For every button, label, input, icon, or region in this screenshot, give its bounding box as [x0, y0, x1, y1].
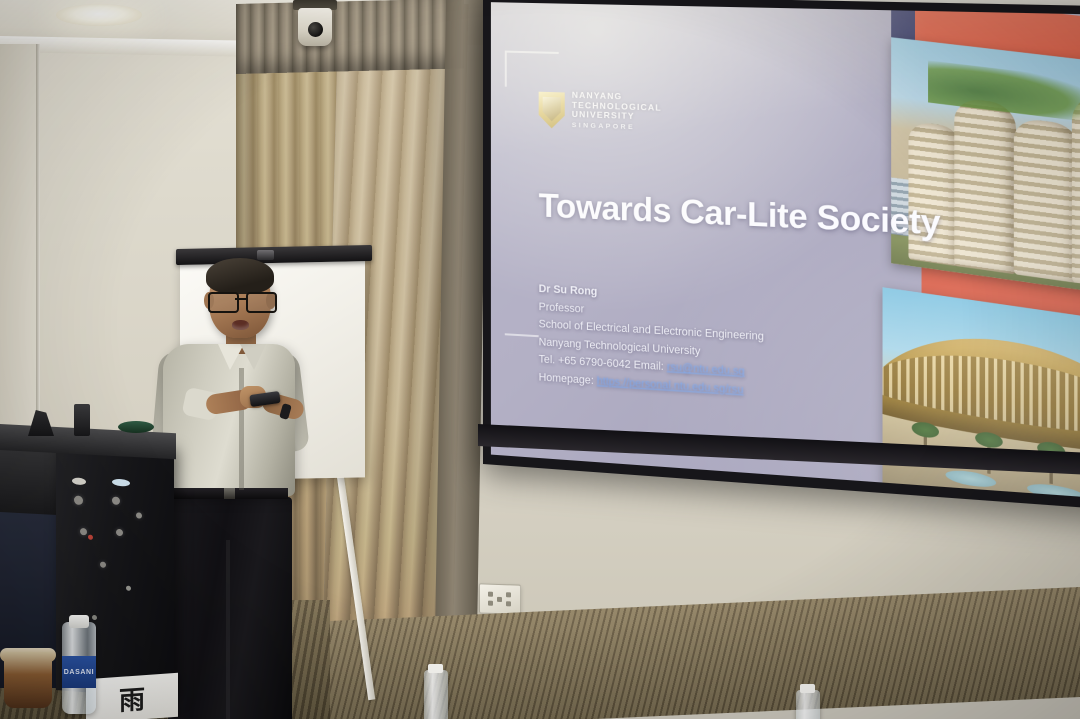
rack-led [88, 535, 93, 540]
slide-byline: Dr Su Rong Professor School of Electrica… [539, 281, 860, 408]
slide-bracket-top-left [505, 51, 559, 89]
bottle-cap [800, 684, 815, 693]
presenter-legs [168, 497, 292, 719]
rack-knob[interactable] [112, 496, 120, 505]
name-card-text: 雨 [119, 679, 145, 718]
ntu-logo: NANYANG TECHNOLOGICAL UNIVERSITY SINGAPO… [539, 90, 662, 134]
socket-hole [497, 597, 502, 602]
slide-bracket-bottom-left [505, 333, 539, 337]
bottle-cap [428, 664, 443, 673]
rack-led [126, 586, 131, 591]
rack-display [72, 477, 86, 485]
rack-led [92, 615, 97, 620]
hive-tower [1072, 94, 1080, 290]
socket-hole [488, 601, 493, 606]
eyeglass-bridge [235, 298, 246, 300]
camera-lens-icon [308, 22, 323, 37]
presenter-belt-buckle [224, 488, 235, 499]
ntu-logo-wordmark: NANYANG TECHNOLOGICAL UNIVERSITY SINGAPO… [572, 91, 662, 134]
av-connector-block [74, 404, 90, 436]
homepage-prefix: Homepage: [539, 371, 594, 387]
rack-knob[interactable] [100, 561, 106, 567]
ntu-crest-icon [539, 92, 565, 129]
eyeglasses-icon [207, 292, 275, 309]
floor-water-bottle-1 [424, 670, 448, 719]
name-card: 雨 [86, 673, 178, 719]
rack-knob[interactable] [136, 512, 142, 518]
bottle-label: DASANI [62, 656, 96, 688]
curtain-pelmet [236, 0, 464, 74]
ceiling-light-icon [56, 4, 142, 26]
eyeglass-lens [208, 292, 239, 313]
hive-tower [954, 97, 1016, 274]
hive-tower [908, 121, 960, 267]
ntu-logo-line-4: SINGAPORE [572, 121, 662, 134]
bottle-cap [69, 615, 89, 628]
socket-hole [506, 601, 511, 606]
rack-knob[interactable] [74, 495, 83, 505]
av-green-pouch [118, 421, 154, 433]
presenter-shirt-placket [239, 368, 244, 490]
socket-hole [488, 592, 493, 597]
eyeglass-lens [246, 292, 277, 313]
ntu-learning-hub-photo [891, 37, 1080, 296]
hive-tower [1014, 117, 1079, 283]
flipchart-clamp [257, 250, 274, 260]
floor-water-bottle-2 [796, 690, 820, 719]
presenter-mouth [232, 320, 249, 330]
rack-display [112, 478, 130, 486]
power-socket[interactable] [479, 583, 521, 614]
presenter-hair [206, 258, 274, 294]
presenter-leg-split [226, 540, 230, 719]
rack-knob[interactable] [80, 528, 87, 536]
socket-hole [506, 592, 511, 597]
email-link[interactable]: rsu@ntu.edu.sg [667, 361, 745, 378]
presentation-photo-scene: NANYANG TECHNOLOGICAL UNIVERSITY SINGAPO… [0, 0, 1080, 719]
projection-screen-surface: NANYANG TECHNOLOGICAL UNIVERSITY SINGAPO… [491, 2, 1080, 499]
rack-knob[interactable] [116, 529, 123, 537]
coffee-cup [4, 652, 52, 708]
